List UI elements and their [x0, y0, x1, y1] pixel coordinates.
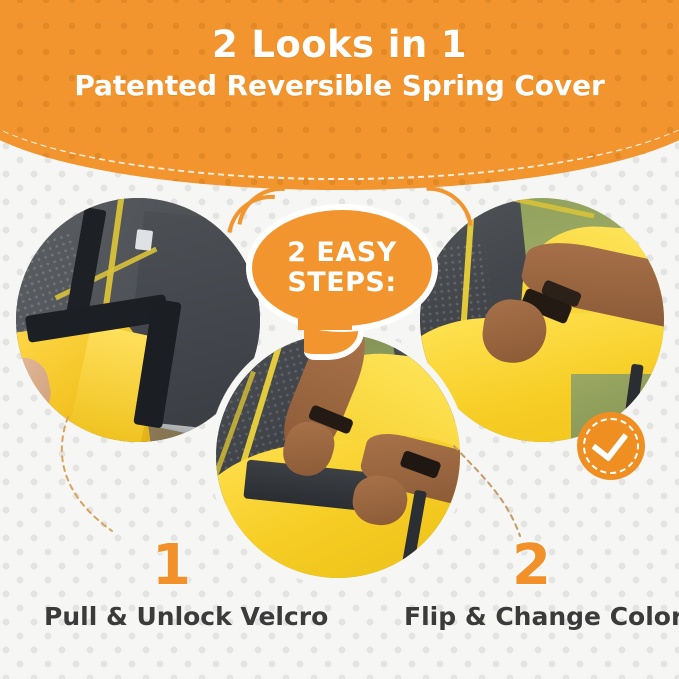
step-caption-1: Pull & Unlock Velcro: [44, 604, 328, 629]
step-number-2: 2: [512, 538, 551, 594]
speech-bubble-line-1: 2 EASY: [287, 238, 397, 268]
page-subtitle: Patented Reversible Spring Cover: [0, 65, 679, 102]
banner-text-block: 2 Looks in 1 Patented Reversible Spring …: [0, 0, 679, 102]
speech-bubble-text: 2 EASY STEPS:: [246, 204, 438, 332]
step-caption-2: Flip & Change Color: [404, 604, 679, 629]
speech-bubble: 2 EASY STEPS:: [232, 190, 452, 360]
photo-middle-content: [216, 334, 460, 578]
step-number-1: 1: [152, 538, 191, 594]
infographic-stage: 2 EASY STEPS: 1 2 Pull & Unlock Velcro F…: [0, 0, 679, 679]
photo-flip-cover: [216, 334, 460, 578]
speech-bubble-line-2: STEPS:: [287, 268, 396, 298]
fabric-label-tag: [134, 229, 152, 251]
connector-line-step-1: [50, 415, 210, 545]
page-title: 2 Looks in 1: [0, 0, 679, 65]
check-badge: [577, 412, 645, 480]
